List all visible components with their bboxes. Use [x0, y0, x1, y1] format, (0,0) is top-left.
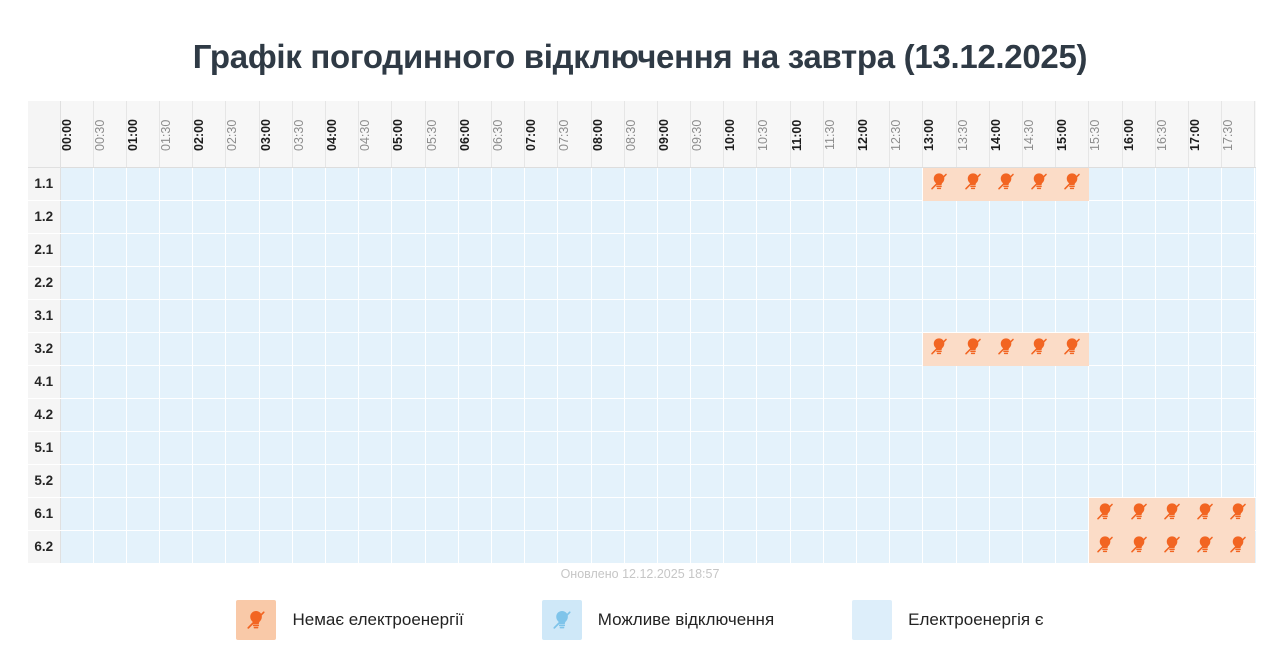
power-on-cell[interactable]	[93, 332, 126, 365]
power-on-cell[interactable]	[657, 167, 690, 200]
power-on-cell[interactable]	[691, 233, 724, 266]
power-on-cell[interactable]	[359, 266, 392, 299]
power-on-cell[interactable]	[60, 398, 93, 431]
power-on-cell[interactable]	[458, 167, 491, 200]
power-on-cell[interactable]	[525, 365, 558, 398]
power-on-cell[interactable]	[259, 299, 292, 332]
power-on-cell[interactable]	[757, 299, 790, 332]
power-on-cell[interactable]	[724, 167, 757, 200]
power-on-cell[interactable]	[757, 365, 790, 398]
power-on-cell[interactable]	[193, 398, 226, 431]
power-on-cell[interactable]	[359, 233, 392, 266]
outage-cell[interactable]	[956, 332, 989, 365]
power-on-cell[interactable]	[525, 299, 558, 332]
power-on-cell[interactable]	[1222, 365, 1255, 398]
power-on-cell[interactable]	[425, 332, 458, 365]
power-on-cell[interactable]	[160, 167, 193, 200]
power-on-cell[interactable]	[392, 332, 425, 365]
power-on-cell[interactable]	[93, 497, 126, 530]
power-on-cell[interactable]	[624, 233, 657, 266]
power-on-cell[interactable]	[1155, 431, 1188, 464]
power-on-cell[interactable]	[1155, 266, 1188, 299]
power-on-cell[interactable]	[1022, 398, 1055, 431]
power-on-cell[interactable]	[425, 464, 458, 497]
power-on-cell[interactable]	[259, 266, 292, 299]
power-on-cell[interactable]	[1056, 200, 1089, 233]
power-on-cell[interactable]	[691, 497, 724, 530]
power-on-cell[interactable]	[392, 464, 425, 497]
power-on-cell[interactable]	[558, 233, 591, 266]
power-on-cell[interactable]	[691, 200, 724, 233]
outage-cell[interactable]	[1022, 332, 1055, 365]
power-on-cell[interactable]	[923, 200, 956, 233]
power-on-cell[interactable]	[160, 233, 193, 266]
power-on-cell[interactable]	[1155, 398, 1188, 431]
power-on-cell[interactable]	[923, 266, 956, 299]
power-on-cell[interactable]	[1089, 332, 1122, 365]
power-on-cell[interactable]	[259, 233, 292, 266]
power-on-cell[interactable]	[657, 266, 690, 299]
power-on-cell[interactable]	[558, 365, 591, 398]
power-on-cell[interactable]	[259, 464, 292, 497]
power-on-cell[interactable]	[491, 233, 524, 266]
power-on-cell[interactable]	[757, 167, 790, 200]
power-on-cell[interactable]	[359, 365, 392, 398]
power-on-cell[interactable]	[126, 299, 159, 332]
power-on-cell[interactable]	[392, 431, 425, 464]
power-on-cell[interactable]	[126, 398, 159, 431]
power-on-cell[interactable]	[1188, 200, 1221, 233]
power-on-cell[interactable]	[1056, 464, 1089, 497]
outage-cell[interactable]	[923, 167, 956, 200]
power-on-cell[interactable]	[989, 497, 1022, 530]
power-on-cell[interactable]	[857, 431, 890, 464]
power-on-cell[interactable]	[392, 365, 425, 398]
power-on-cell[interactable]	[60, 365, 93, 398]
power-on-cell[interactable]	[890, 233, 923, 266]
power-on-cell[interactable]	[1056, 431, 1089, 464]
power-on-cell[interactable]	[226, 233, 259, 266]
power-on-cell[interactable]	[724, 332, 757, 365]
power-on-cell[interactable]	[359, 497, 392, 530]
power-on-cell[interactable]	[857, 398, 890, 431]
power-on-cell[interactable]	[193, 167, 226, 200]
power-on-cell[interactable]	[491, 464, 524, 497]
power-on-cell[interactable]	[491, 266, 524, 299]
outage-cell[interactable]	[956, 167, 989, 200]
power-on-cell[interactable]	[1022, 464, 1055, 497]
power-on-cell[interactable]	[126, 365, 159, 398]
power-on-cell[interactable]	[591, 431, 624, 464]
power-on-cell[interactable]	[160, 431, 193, 464]
power-on-cell[interactable]	[491, 431, 524, 464]
power-on-cell[interactable]	[491, 365, 524, 398]
power-on-cell[interactable]	[691, 398, 724, 431]
power-on-cell[interactable]	[1255, 497, 1256, 530]
power-on-cell[interactable]	[126, 167, 159, 200]
power-on-cell[interactable]	[1222, 464, 1255, 497]
power-on-cell[interactable]	[691, 365, 724, 398]
power-on-cell[interactable]	[525, 200, 558, 233]
power-on-cell[interactable]	[60, 167, 93, 200]
power-on-cell[interactable]	[458, 431, 491, 464]
power-on-cell[interactable]	[724, 497, 757, 530]
power-on-cell[interactable]	[160, 200, 193, 233]
power-on-cell[interactable]	[60, 332, 93, 365]
power-on-cell[interactable]	[956, 266, 989, 299]
power-on-cell[interactable]	[93, 266, 126, 299]
power-on-cell[interactable]	[823, 233, 856, 266]
power-on-cell[interactable]	[989, 464, 1022, 497]
power-on-cell[interactable]	[724, 398, 757, 431]
power-on-cell[interactable]	[1188, 266, 1221, 299]
power-on-cell[interactable]	[1022, 266, 1055, 299]
power-on-cell[interactable]	[558, 167, 591, 200]
power-on-cell[interactable]	[823, 365, 856, 398]
power-on-cell[interactable]	[989, 365, 1022, 398]
power-on-cell[interactable]	[292, 398, 325, 431]
power-on-cell[interactable]	[956, 398, 989, 431]
power-on-cell[interactable]	[591, 200, 624, 233]
power-on-cell[interactable]	[591, 233, 624, 266]
power-on-cell[interactable]	[1155, 332, 1188, 365]
power-on-cell[interactable]	[657, 398, 690, 431]
power-on-cell[interactable]	[425, 233, 458, 266]
power-on-cell[interactable]	[724, 365, 757, 398]
power-on-cell[interactable]	[1089, 365, 1122, 398]
power-on-cell[interactable]	[857, 299, 890, 332]
power-on-cell[interactable]	[525, 398, 558, 431]
power-on-cell[interactable]	[392, 497, 425, 530]
power-on-cell[interactable]	[1188, 233, 1221, 266]
power-on-cell[interactable]	[1089, 398, 1122, 431]
power-on-cell[interactable]	[326, 233, 359, 266]
power-on-cell[interactable]	[491, 200, 524, 233]
power-on-cell[interactable]	[359, 398, 392, 431]
power-on-cell[interactable]	[226, 497, 259, 530]
power-on-cell[interactable]	[1255, 398, 1256, 431]
power-on-cell[interactable]	[1056, 398, 1089, 431]
power-on-cell[interactable]	[923, 497, 956, 530]
power-on-cell[interactable]	[1222, 167, 1255, 200]
power-on-cell[interactable]	[458, 332, 491, 365]
power-on-cell[interactable]	[857, 332, 890, 365]
power-on-cell[interactable]	[292, 332, 325, 365]
power-on-cell[interactable]	[525, 233, 558, 266]
power-on-cell[interactable]	[226, 266, 259, 299]
power-on-cell[interactable]	[359, 167, 392, 200]
power-on-cell[interactable]	[259, 431, 292, 464]
power-on-cell[interactable]	[657, 299, 690, 332]
outage-cell[interactable]	[1188, 497, 1221, 530]
power-on-cell[interactable]	[1089, 464, 1122, 497]
power-on-cell[interactable]	[757, 233, 790, 266]
power-on-cell[interactable]	[591, 365, 624, 398]
power-on-cell[interactable]	[657, 233, 690, 266]
power-on-cell[interactable]	[1089, 200, 1122, 233]
power-on-cell[interactable]	[525, 332, 558, 365]
power-on-cell[interactable]	[160, 497, 193, 530]
power-on-cell[interactable]	[1155, 167, 1188, 200]
power-on-cell[interactable]	[1255, 299, 1256, 332]
power-on-cell[interactable]	[657, 464, 690, 497]
power-on-cell[interactable]	[624, 167, 657, 200]
power-on-cell[interactable]	[326, 497, 359, 530]
power-on-cell[interactable]	[1056, 266, 1089, 299]
power-on-cell[interactable]	[359, 464, 392, 497]
power-on-cell[interactable]	[1222, 398, 1255, 431]
power-on-cell[interactable]	[60, 431, 93, 464]
power-on-cell[interactable]	[989, 233, 1022, 266]
power-on-cell[interactable]	[790, 266, 823, 299]
power-on-cell[interactable]	[160, 464, 193, 497]
power-on-cell[interactable]	[1255, 167, 1256, 200]
power-on-cell[interactable]	[292, 431, 325, 464]
power-on-cell[interactable]	[392, 233, 425, 266]
power-on-cell[interactable]	[558, 398, 591, 431]
power-on-cell[interactable]	[160, 398, 193, 431]
power-on-cell[interactable]	[93, 299, 126, 332]
power-on-cell[interactable]	[392, 266, 425, 299]
power-on-cell[interactable]	[193, 332, 226, 365]
power-on-cell[interactable]	[857, 167, 890, 200]
power-on-cell[interactable]	[1188, 464, 1221, 497]
power-on-cell[interactable]	[1155, 299, 1188, 332]
power-on-cell[interactable]	[956, 431, 989, 464]
power-on-cell[interactable]	[193, 431, 226, 464]
power-on-cell[interactable]	[857, 233, 890, 266]
power-on-cell[interactable]	[425, 497, 458, 530]
power-on-cell[interactable]	[558, 431, 591, 464]
power-on-cell[interactable]	[392, 200, 425, 233]
power-on-cell[interactable]	[491, 398, 524, 431]
power-on-cell[interactable]	[1188, 299, 1221, 332]
power-on-cell[interactable]	[60, 497, 93, 530]
power-on-cell[interactable]	[790, 431, 823, 464]
power-on-cell[interactable]	[890, 365, 923, 398]
power-on-cell[interactable]	[1255, 233, 1256, 266]
power-on-cell[interactable]	[193, 464, 226, 497]
outage-cell[interactable]	[989, 167, 1022, 200]
power-on-cell[interactable]	[724, 464, 757, 497]
outage-cell[interactable]	[1089, 497, 1122, 530]
outage-cell[interactable]	[989, 332, 1022, 365]
power-on-cell[interactable]	[1188, 167, 1221, 200]
power-on-cell[interactable]	[359, 431, 392, 464]
outage-cell[interactable]	[1056, 167, 1089, 200]
power-on-cell[interactable]	[1255, 200, 1256, 233]
power-on-cell[interactable]	[292, 299, 325, 332]
power-on-cell[interactable]	[425, 200, 458, 233]
power-on-cell[interactable]	[1155, 233, 1188, 266]
power-on-cell[interactable]	[1056, 365, 1089, 398]
power-on-cell[interactable]	[259, 167, 292, 200]
power-on-cell[interactable]	[657, 431, 690, 464]
power-on-cell[interactable]	[691, 167, 724, 200]
power-on-cell[interactable]	[757, 431, 790, 464]
power-on-cell[interactable]	[226, 365, 259, 398]
power-on-cell[interactable]	[624, 398, 657, 431]
power-on-cell[interactable]	[757, 200, 790, 233]
power-on-cell[interactable]	[956, 464, 989, 497]
power-on-cell[interactable]	[126, 464, 159, 497]
power-on-cell[interactable]	[1089, 233, 1122, 266]
power-on-cell[interactable]	[525, 464, 558, 497]
power-on-cell[interactable]	[624, 200, 657, 233]
outage-cell[interactable]	[1122, 497, 1155, 530]
power-on-cell[interactable]	[93, 398, 126, 431]
outage-cell[interactable]	[1056, 332, 1089, 365]
power-on-cell[interactable]	[624, 365, 657, 398]
power-on-cell[interactable]	[458, 233, 491, 266]
power-on-cell[interactable]	[326, 266, 359, 299]
power-on-cell[interactable]	[226, 464, 259, 497]
power-on-cell[interactable]	[326, 167, 359, 200]
power-on-cell[interactable]	[93, 200, 126, 233]
power-on-cell[interactable]	[93, 365, 126, 398]
power-on-cell[interactable]	[1022, 365, 1055, 398]
power-on-cell[interactable]	[458, 365, 491, 398]
power-on-cell[interactable]	[1122, 431, 1155, 464]
power-on-cell[interactable]	[458, 497, 491, 530]
power-on-cell[interactable]	[790, 167, 823, 200]
power-on-cell[interactable]	[292, 365, 325, 398]
power-on-cell[interactable]	[591, 398, 624, 431]
power-on-cell[interactable]	[558, 332, 591, 365]
power-on-cell[interactable]	[890, 167, 923, 200]
power-on-cell[interactable]	[392, 398, 425, 431]
power-on-cell[interactable]	[193, 233, 226, 266]
power-on-cell[interactable]	[1056, 233, 1089, 266]
power-on-cell[interactable]	[923, 464, 956, 497]
power-on-cell[interactable]	[624, 431, 657, 464]
power-on-cell[interactable]	[126, 266, 159, 299]
power-on-cell[interactable]	[525, 431, 558, 464]
power-on-cell[interactable]	[1222, 332, 1255, 365]
power-on-cell[interactable]	[857, 266, 890, 299]
power-on-cell[interactable]	[956, 497, 989, 530]
power-on-cell[interactable]	[624, 464, 657, 497]
power-on-cell[interactable]	[1022, 233, 1055, 266]
power-on-cell[interactable]	[989, 200, 1022, 233]
power-on-cell[interactable]	[724, 299, 757, 332]
power-on-cell[interactable]	[160, 332, 193, 365]
power-on-cell[interactable]	[1222, 431, 1255, 464]
power-on-cell[interactable]	[126, 332, 159, 365]
power-on-cell[interactable]	[657, 497, 690, 530]
power-on-cell[interactable]	[1056, 497, 1089, 530]
power-on-cell[interactable]	[60, 266, 93, 299]
power-on-cell[interactable]	[226, 299, 259, 332]
power-on-cell[interactable]	[757, 266, 790, 299]
power-on-cell[interactable]	[956, 299, 989, 332]
power-on-cell[interactable]	[1022, 497, 1055, 530]
power-on-cell[interactable]	[1089, 167, 1122, 200]
power-on-cell[interactable]	[890, 332, 923, 365]
power-on-cell[interactable]	[226, 398, 259, 431]
power-on-cell[interactable]	[823, 431, 856, 464]
power-on-cell[interactable]	[624, 266, 657, 299]
power-on-cell[interactable]	[624, 332, 657, 365]
power-on-cell[interactable]	[326, 398, 359, 431]
power-on-cell[interactable]	[60, 233, 93, 266]
power-on-cell[interactable]	[757, 464, 790, 497]
power-on-cell[interactable]	[1089, 299, 1122, 332]
power-on-cell[interactable]	[757, 332, 790, 365]
power-on-cell[interactable]	[326, 365, 359, 398]
power-on-cell[interactable]	[525, 497, 558, 530]
power-on-cell[interactable]	[126, 431, 159, 464]
power-on-cell[interactable]	[1222, 299, 1255, 332]
power-on-cell[interactable]	[823, 332, 856, 365]
outage-cell[interactable]	[1022, 167, 1055, 200]
power-on-cell[interactable]	[1188, 431, 1221, 464]
power-on-cell[interactable]	[691, 266, 724, 299]
power-on-cell[interactable]	[60, 299, 93, 332]
power-on-cell[interactable]	[890, 266, 923, 299]
power-on-cell[interactable]	[857, 497, 890, 530]
power-on-cell[interactable]	[1188, 398, 1221, 431]
horizontal-scrollbar-track[interactable]	[28, 544, 1256, 555]
power-on-cell[interactable]	[724, 431, 757, 464]
power-on-cell[interactable]	[326, 299, 359, 332]
power-on-cell[interactable]	[558, 200, 591, 233]
power-on-cell[interactable]	[956, 200, 989, 233]
power-on-cell[interactable]	[624, 497, 657, 530]
power-on-cell[interactable]	[1255, 431, 1256, 464]
power-on-cell[interactable]	[458, 266, 491, 299]
power-on-cell[interactable]	[1222, 266, 1255, 299]
power-on-cell[interactable]	[691, 299, 724, 332]
power-on-cell[interactable]	[1155, 200, 1188, 233]
power-on-cell[interactable]	[425, 167, 458, 200]
power-on-cell[interactable]	[1089, 266, 1122, 299]
power-on-cell[interactable]	[1222, 233, 1255, 266]
power-on-cell[interactable]	[790, 365, 823, 398]
power-on-cell[interactable]	[1122, 233, 1155, 266]
power-on-cell[interactable]	[657, 365, 690, 398]
power-on-cell[interactable]	[1122, 332, 1155, 365]
power-on-cell[interactable]	[359, 299, 392, 332]
power-on-cell[interactable]	[292, 266, 325, 299]
power-on-cell[interactable]	[890, 464, 923, 497]
power-on-cell[interactable]	[724, 200, 757, 233]
outage-cell[interactable]	[1155, 497, 1188, 530]
power-on-cell[interactable]	[1122, 398, 1155, 431]
power-on-cell[interactable]	[458, 398, 491, 431]
power-on-cell[interactable]	[259, 332, 292, 365]
power-on-cell[interactable]	[1188, 332, 1221, 365]
power-on-cell[interactable]	[259, 398, 292, 431]
outage-cell[interactable]	[1222, 497, 1255, 530]
power-on-cell[interactable]	[226, 431, 259, 464]
power-on-cell[interactable]	[1122, 299, 1155, 332]
power-on-cell[interactable]	[1255, 332, 1256, 365]
power-on-cell[interactable]	[193, 299, 226, 332]
power-on-cell[interactable]	[1122, 200, 1155, 233]
power-on-cell[interactable]	[458, 299, 491, 332]
power-on-cell[interactable]	[359, 332, 392, 365]
power-on-cell[interactable]	[491, 167, 524, 200]
power-on-cell[interactable]	[491, 299, 524, 332]
power-on-cell[interactable]	[823, 200, 856, 233]
power-on-cell[interactable]	[691, 332, 724, 365]
power-on-cell[interactable]	[823, 497, 856, 530]
power-on-cell[interactable]	[657, 332, 690, 365]
power-on-cell[interactable]	[1255, 266, 1256, 299]
power-on-cell[interactable]	[160, 299, 193, 332]
power-on-cell[interactable]	[923, 398, 956, 431]
